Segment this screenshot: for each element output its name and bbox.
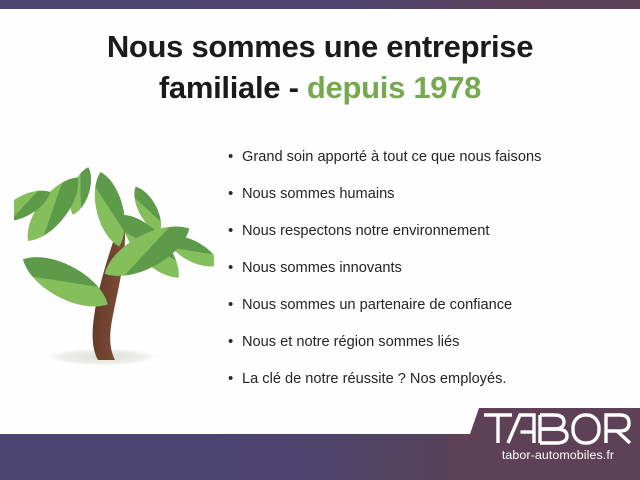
bullet-marker-icon: • bbox=[228, 294, 242, 316]
top-accent-band bbox=[0, 0, 640, 9]
slide-canvas: Nous sommes une entreprise familiale - d… bbox=[0, 0, 640, 480]
list-item-label: Grand soin apporté à tout ce que nous fa… bbox=[242, 146, 541, 168]
page-title-line-2-black: familiale - bbox=[159, 70, 307, 105]
list-item: • Nous et notre région sommes liés bbox=[228, 331, 632, 368]
bullet-marker-icon: • bbox=[228, 257, 242, 279]
list-item: • Nous sommes humains bbox=[228, 183, 632, 220]
page-title-line-2: familiale - depuis 1978 bbox=[0, 67, 640, 108]
bullet-marker-icon: • bbox=[228, 183, 242, 205]
tree-illustration bbox=[14, 152, 214, 384]
page-title-line-2-highlight: depuis 1978 bbox=[307, 70, 481, 105]
bullet-marker-icon: • bbox=[228, 331, 242, 353]
list-item: • La clé de notre réussite ? Nos employé… bbox=[228, 368, 632, 405]
list-item: • Nous respectons notre environnement bbox=[228, 220, 632, 257]
list-item: • Nous sommes un partenaire de confiance bbox=[228, 294, 632, 331]
bullet-marker-icon: • bbox=[228, 368, 242, 390]
list-item-label: Nous et notre région sommes liés bbox=[242, 331, 459, 353]
list-item: • Nous sommes innovants bbox=[228, 257, 632, 294]
tabor-wordmark-icon bbox=[482, 412, 632, 446]
logo-tagline: tabor-automobiles.fr bbox=[483, 448, 633, 462]
list-item-label: Nous sommes humains bbox=[242, 183, 394, 205]
page-title: Nous sommes une entreprise familiale - d… bbox=[0, 26, 640, 108]
value-bullet-list: • Grand soin apporté à tout ce que nous … bbox=[228, 146, 632, 405]
list-item-label: Nous sommes innovants bbox=[242, 257, 402, 279]
bullet-marker-icon: • bbox=[228, 146, 242, 168]
list-item-label: Nous sommes un partenaire de confiance bbox=[242, 294, 512, 316]
list-item-label: Nous respectons notre environnement bbox=[242, 220, 489, 242]
tree-leaf bbox=[88, 169, 132, 250]
brand-logo[interactable]: tabor-automobiles.fr bbox=[482, 412, 634, 474]
page-title-line-1: Nous sommes une entreprise bbox=[0, 26, 640, 67]
list-item-label: La clé de notre réussite ? Nos employés. bbox=[242, 368, 506, 390]
list-item: • Grand soin apporté à tout ce que nous … bbox=[228, 146, 632, 183]
bullet-marker-icon: • bbox=[228, 220, 242, 242]
